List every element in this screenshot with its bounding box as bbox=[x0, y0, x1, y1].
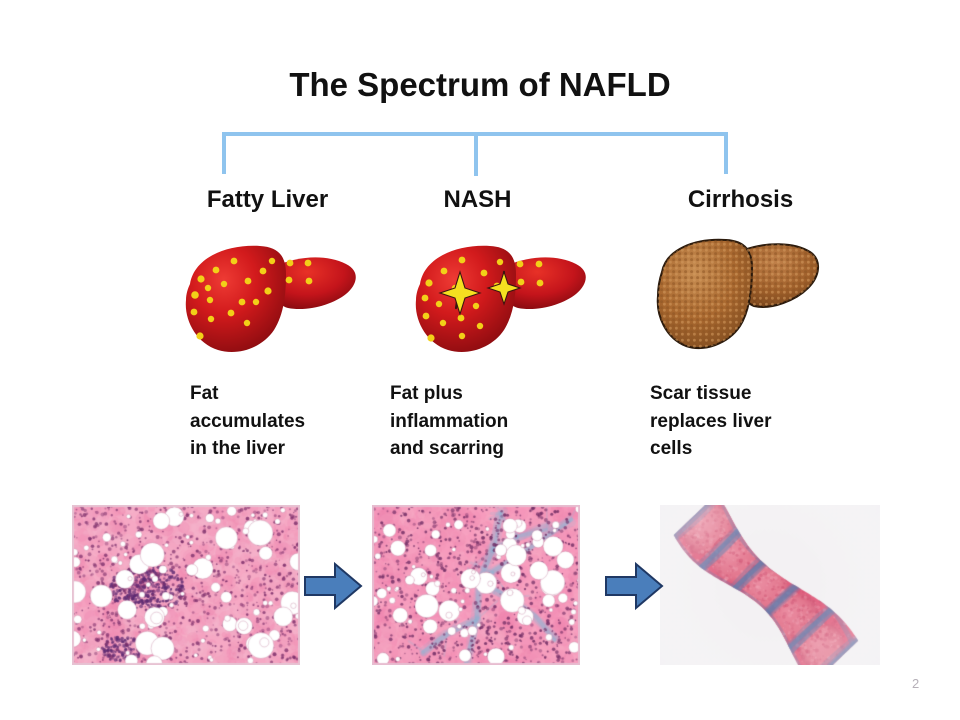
histology-image-cirrhosis-biopsy bbox=[660, 505, 880, 665]
progression-arrow-1 bbox=[302, 560, 364, 612]
histology-canvas-cirrhosis bbox=[660, 505, 880, 665]
page-number: 2 bbox=[912, 676, 942, 691]
histology-image-nash-fibrosis bbox=[372, 505, 580, 665]
arrow-right-icon bbox=[302, 560, 364, 612]
cirrhotic-liver-svg bbox=[648, 228, 828, 360]
cirrhotic-liver-icon bbox=[648, 228, 828, 360]
histology-image-steatosis bbox=[72, 505, 300, 665]
histology-canvas-nash bbox=[372, 505, 580, 665]
fatty-liver-icon bbox=[168, 228, 368, 368]
stage-label-cirrhosis: Cirrhosis bbox=[648, 186, 833, 214]
arrow-right-icon bbox=[603, 560, 665, 612]
spectrum-bracket bbox=[210, 126, 740, 181]
stage-description-nash: Fat plus inflammation and scarring bbox=[390, 380, 590, 463]
fatty-liver-svg bbox=[168, 228, 368, 368]
slide-canvas: The Spectrum of NAFLD Fatty Liver NASH C… bbox=[0, 0, 960, 720]
nash-liver-svg bbox=[398, 228, 598, 368]
histology-canvas-steatosis bbox=[72, 505, 300, 665]
bracket-svg bbox=[210, 126, 740, 181]
progression-arrow-2 bbox=[603, 560, 665, 612]
stage-label-nash: NASH bbox=[400, 186, 555, 214]
nash-liver-icon bbox=[398, 228, 598, 368]
stage-label-fatty-liver: Fatty Liver bbox=[160, 186, 375, 214]
page-title: The Spectrum of NAFLD bbox=[0, 66, 960, 104]
stage-description-fatty-liver: Fat accumulates in the liver bbox=[190, 380, 370, 463]
stage-description-cirrhosis: Scar tissue replaces liver cells bbox=[650, 380, 850, 463]
